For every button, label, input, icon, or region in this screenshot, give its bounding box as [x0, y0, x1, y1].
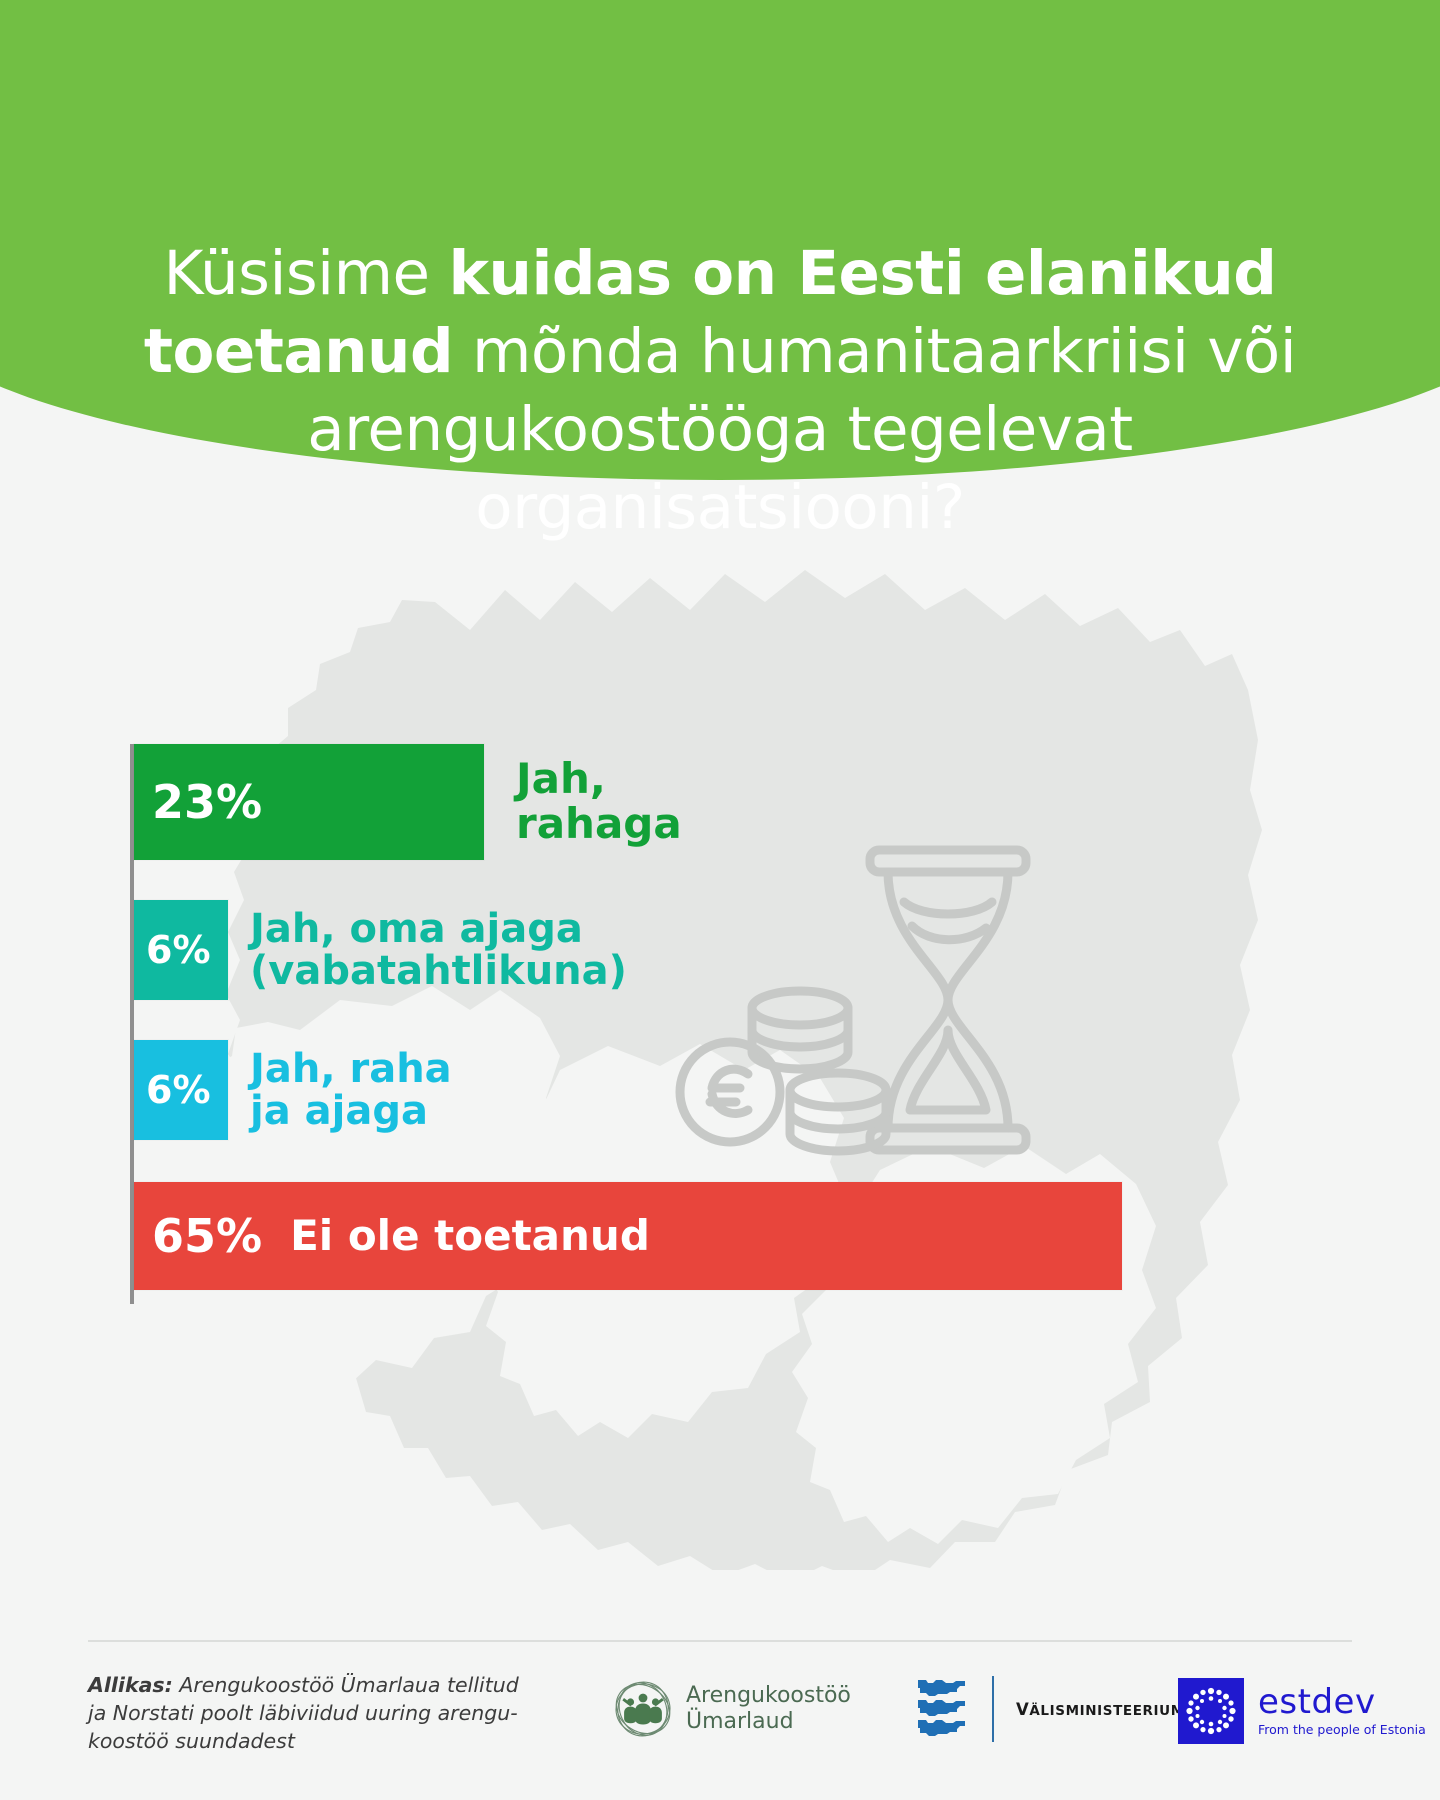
- bar-label-both: Jah, raha ja ajaga: [250, 1048, 452, 1133]
- bar-label-none: Ei ole toetanud: [290, 1214, 650, 1259]
- title-part-2: mõnda humanitaarkriisi või arengukoostöö…: [307, 316, 1296, 543]
- logo-arengukoostoo-umarlaud[interactable]: Arengukoostöö Ümarlaud: [612, 1678, 851, 1740]
- bar-chart: 23% Jah, rahaga 6% Jah, oma ajaga (vabat…: [0, 700, 1440, 1340]
- bar-value-money: 23%: [134, 775, 262, 829]
- estdev-tagline: From the people of Estonia: [1258, 1724, 1426, 1737]
- bar-none: 65% Ei ole toetanud: [134, 1182, 1122, 1290]
- roundtable-emblem-icon: [612, 1678, 674, 1740]
- bar-row-both: 6% Jah, raha ja ajaga: [134, 1040, 452, 1140]
- logo-divider: [992, 1676, 994, 1742]
- logo-valisministeerium-text: VÄLISMINISTEERIUM: [1016, 1700, 1185, 1719]
- bar-value-none: 65%: [134, 1209, 262, 1263]
- bar-label-time: Jah, oma ajaga (vabatahtlikuna): [250, 908, 627, 993]
- estdev-wordmark: estdev From the people of Estonia: [1258, 1685, 1426, 1737]
- ministry-name-rest: ÄLISMINISTEERIUM: [1029, 1703, 1184, 1719]
- estonia-coat-of-arms-icon: [910, 1674, 970, 1744]
- ministry-initial: V: [1016, 1700, 1029, 1719]
- estdev-name: estdev: [1258, 1685, 1426, 1719]
- bar-time: 6%: [134, 900, 228, 1000]
- bar-value-both: 6%: [134, 1068, 211, 1112]
- bar-row-money: 23% Jah, rahaga: [134, 744, 682, 860]
- bar-row-time: 6% Jah, oma ajaga (vabatahtlikuna): [134, 900, 627, 1000]
- bar-money: 23%: [134, 744, 484, 860]
- logo-arengukoostoo-umarlaud-text: Arengukoostöö Ümarlaud: [686, 1683, 851, 1735]
- footer-divider: [88, 1640, 1352, 1642]
- estdev-emblem-icon: [1178, 1678, 1244, 1744]
- source-label: Allikas:: [88, 1673, 173, 1697]
- title-part-1: Küsisime: [164, 238, 449, 309]
- bar-value-time: 6%: [134, 928, 211, 972]
- bar-label-money: Jah, rahaga: [516, 757, 682, 846]
- bar-row-none: 65% Ei ole toetanud: [134, 1182, 1122, 1290]
- bar-both: 6%: [134, 1040, 228, 1140]
- source-note: Allikas: Arengukoostöö Ümarlaua tellitud…: [88, 1672, 528, 1756]
- logo-valisministeerium[interactable]: VÄLISMINISTEERIUM: [910, 1674, 1185, 1744]
- page-title: Küsisime kuidas on Eesti elanikud toetan…: [0, 235, 1440, 547]
- footer: Allikas: Arengukoostöö Ümarlaua tellitud…: [0, 1640, 1440, 1800]
- logo-estdev[interactable]: estdev From the people of Estonia: [1178, 1678, 1426, 1744]
